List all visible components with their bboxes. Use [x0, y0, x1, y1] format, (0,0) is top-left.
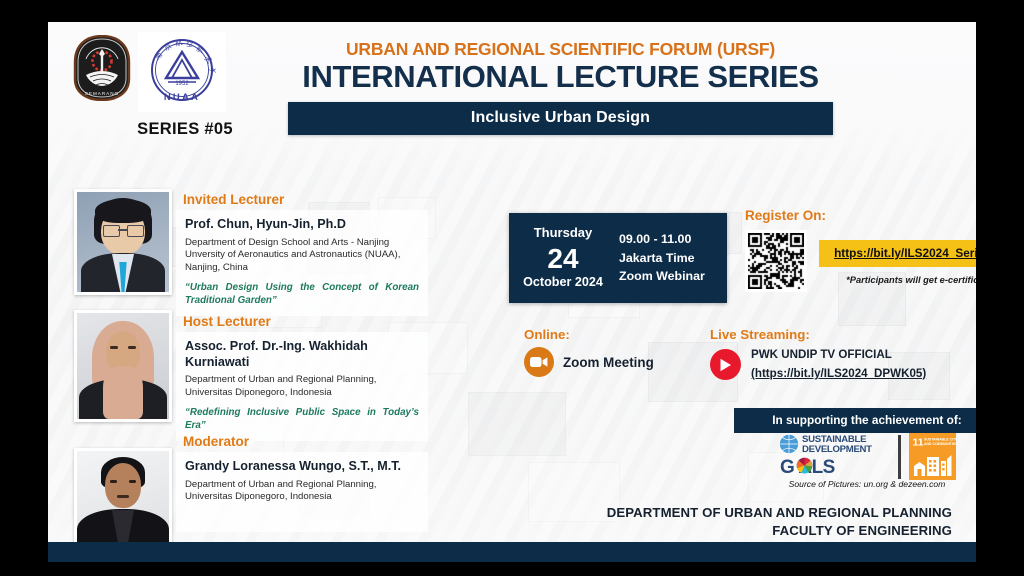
host-lecturer-talk: “Redefining Inclusive Public Space in To… [185, 406, 419, 433]
poster-stage: SEMARANG 1952 NUAA 南 京 航 空 航 天 [0, 0, 1024, 576]
invited-lecturer-block: Invited Lecturer Prof. Chun, Hyun-Jin, P… [176, 192, 428, 316]
portrait-art [77, 451, 169, 553]
svg-text:NUAA: NUAA [164, 92, 200, 103]
svg-text:DEVELOPMENT: DEVELOPMENT [802, 444, 872, 455]
footer-line-1: DEPARTMENT OF URBAN AND REGIONAL PLANNIN… [532, 504, 952, 522]
live-title: Live Streaming: [710, 327, 926, 342]
qr-code[interactable] [745, 230, 807, 292]
svg-text:SEMARANG: SEMARANG [85, 91, 119, 96]
host-lecturer-block: Host Lecturer Assoc. Prof. Dr.-Ing. Wakh… [176, 314, 428, 441]
sdg-goal-11-icon: 11 SUSTAINABLE CITIES AND COMMUNITIES [909, 433, 956, 480]
host-lecturer-name: Assoc. Prof. Dr.-Ing. Wakhidah Kurniawat… [185, 339, 419, 370]
nuaa-logo-icon: 1952 NUAA 南 京 航 空 航 天 大 [138, 32, 226, 112]
undip-logo-icon: SEMARANG [72, 35, 132, 101]
header-titles: URBAN AND REGIONAL SCIENTIFIC FORUM (URS… [288, 40, 833, 135]
series-number: SERIES #05 [120, 120, 250, 139]
live-url[interactable]: (https://bit.ly/ILS2024_DPWK05) [751, 367, 926, 380]
date-left: Thursday 24 October 2024 [509, 226, 617, 289]
svg-text:SUSTAINABLE CITIES: SUSTAINABLE CITIES [924, 438, 956, 442]
invited-lecturer-dept: Department of Design School and Arts - N… [185, 237, 419, 275]
moderator-dept: Department of Urban and Regional Plannin… [185, 479, 419, 504]
svg-text:1952: 1952 [175, 81, 189, 87]
svg-text:空: 空 [186, 39, 194, 49]
invited-lecturer-name: Prof. Chun, Hyun-Jin, Ph.D [185, 217, 419, 233]
event-time: 09.00 - 11.00 [619, 230, 727, 249]
day-number: 24 [509, 243, 617, 275]
invited-lecturer-talk: “Urban Design Using the Concept of Korea… [185, 281, 419, 308]
register-title: Register On: [745, 208, 826, 223]
date-right: 09.00 - 11.00 Jakarta Time Zoom Webinar [617, 230, 727, 287]
online-block: Online: Zoom Meeting [524, 327, 654, 377]
register-note: *Participants will get e-certificate [819, 275, 976, 285]
portrait-art [77, 313, 169, 419]
moderator-block: Moderator Grandy Loranessa Wungo, S.T., … [176, 434, 428, 532]
sdg-body: SUSTAINABLE DEVELOPMENT G ALS [734, 432, 976, 481]
host-lecturer-photo [74, 310, 172, 422]
register-link[interactable]: https://bit.ly/ILS2024_Series05 [819, 240, 976, 267]
video-camera-icon [524, 347, 554, 377]
live-channel: PWK UNDIP TV OFFICIAL [751, 347, 926, 364]
footer-line-2: FACULTY OF ENGINEERING [532, 522, 952, 540]
event-date-panel: Thursday 24 October 2024 09.00 - 11.00 J… [509, 213, 727, 303]
slide: SEMARANG 1952 NUAA 南 京 航 空 航 天 [48, 22, 976, 562]
forum-name: URBAN AND REGIONAL SCIENTIFIC FORUM (URS… [288, 40, 833, 59]
event-platform: Zoom Webinar [619, 267, 727, 286]
moderator-name: Grandy Loranessa Wungo, S.T., M.T. [185, 459, 419, 475]
slide-bottom-bar [48, 542, 976, 562]
host-lecturer-dept: Department of Urban and Regional Plannin… [185, 374, 419, 399]
event-timezone: Jakarta Time [619, 249, 727, 268]
invited-lecturer-photo [74, 189, 172, 295]
sdg-source-note: Source of Pictures: un.org & dezeen.com [734, 479, 976, 489]
play-icon [710, 349, 741, 380]
online-platform: Zoom Meeting [563, 355, 654, 370]
host-lecturer-role: Host Lecturer [183, 314, 428, 329]
svg-text:AND COMMUNITIES: AND COMMUNITIES [924, 442, 956, 446]
svg-text:11: 11 [913, 437, 924, 449]
moderator-role: Moderator [183, 434, 428, 449]
event-title: INTERNATIONAL LECTURE SERIES [288, 60, 833, 95]
sdg-header: In supporting the achievement of: [734, 408, 976, 433]
event-theme: Inclusive Urban Design [288, 102, 833, 135]
sdg-logo-icon: SUSTAINABLE DEVELOPMENT G ALS [778, 432, 890, 481]
sdg-divider [898, 435, 901, 479]
live-streaming-block: Live Streaming: PWK UNDIP TV OFFICIAL (h… [710, 327, 926, 383]
moderator-photo [74, 448, 172, 556]
invited-lecturer-role: Invited Lecturer [183, 192, 428, 207]
month-year: October 2024 [509, 276, 617, 290]
day-of-week: Thursday [509, 226, 617, 240]
online-title: Online: [524, 327, 654, 342]
portrait-art [77, 192, 169, 292]
